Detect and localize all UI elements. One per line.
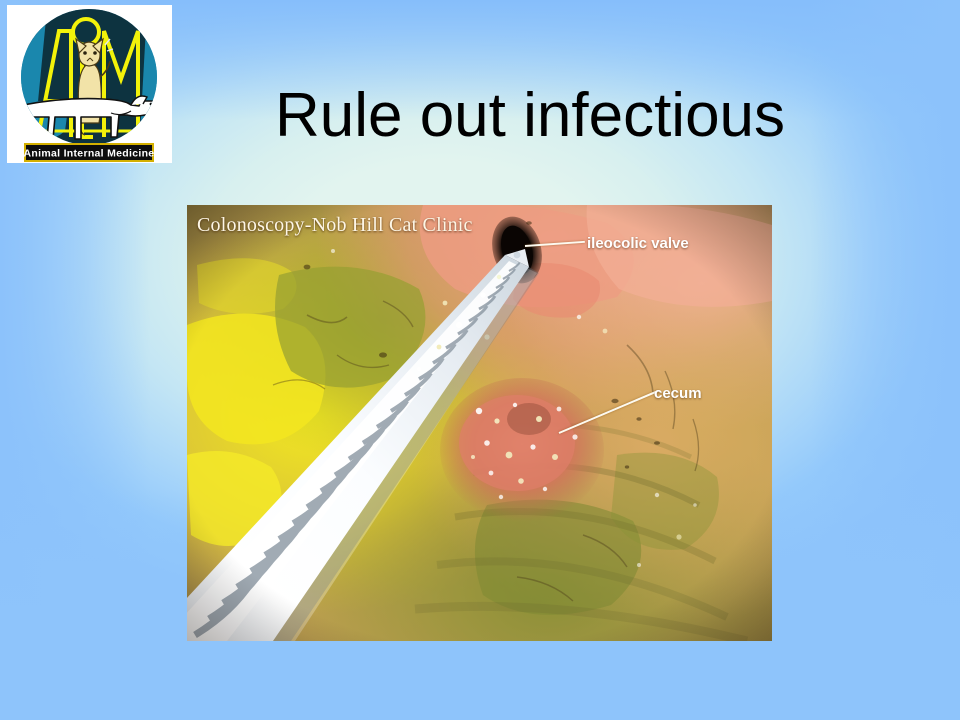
annotation-ileocolic-valve: ileocolic valve bbox=[587, 235, 689, 252]
slide-canvas: Animal Internal Medicine Rule out infect… bbox=[0, 0, 960, 720]
annotation-cecum: cecum bbox=[654, 385, 702, 402]
logo-caption-text: Animal Internal Medicine bbox=[24, 148, 155, 160]
endoscopy-photo: Colonoscopy-Nob Hill Cat Clinic ileocoli… bbox=[187, 205, 772, 641]
photo-caption: Colonoscopy-Nob Hill Cat Clinic bbox=[197, 214, 473, 237]
aim-logo-graphic: Animal Internal Medicine bbox=[7, 5, 172, 163]
logo-circle-inner bbox=[9, 5, 167, 153]
aim-logo: Animal Internal Medicine bbox=[7, 5, 172, 163]
page-title: Rule out infectious bbox=[200, 83, 860, 148]
logo-caption-plate: Animal Internal Medicine bbox=[24, 144, 155, 161]
endoscopy-photo-graphic bbox=[187, 205, 772, 641]
